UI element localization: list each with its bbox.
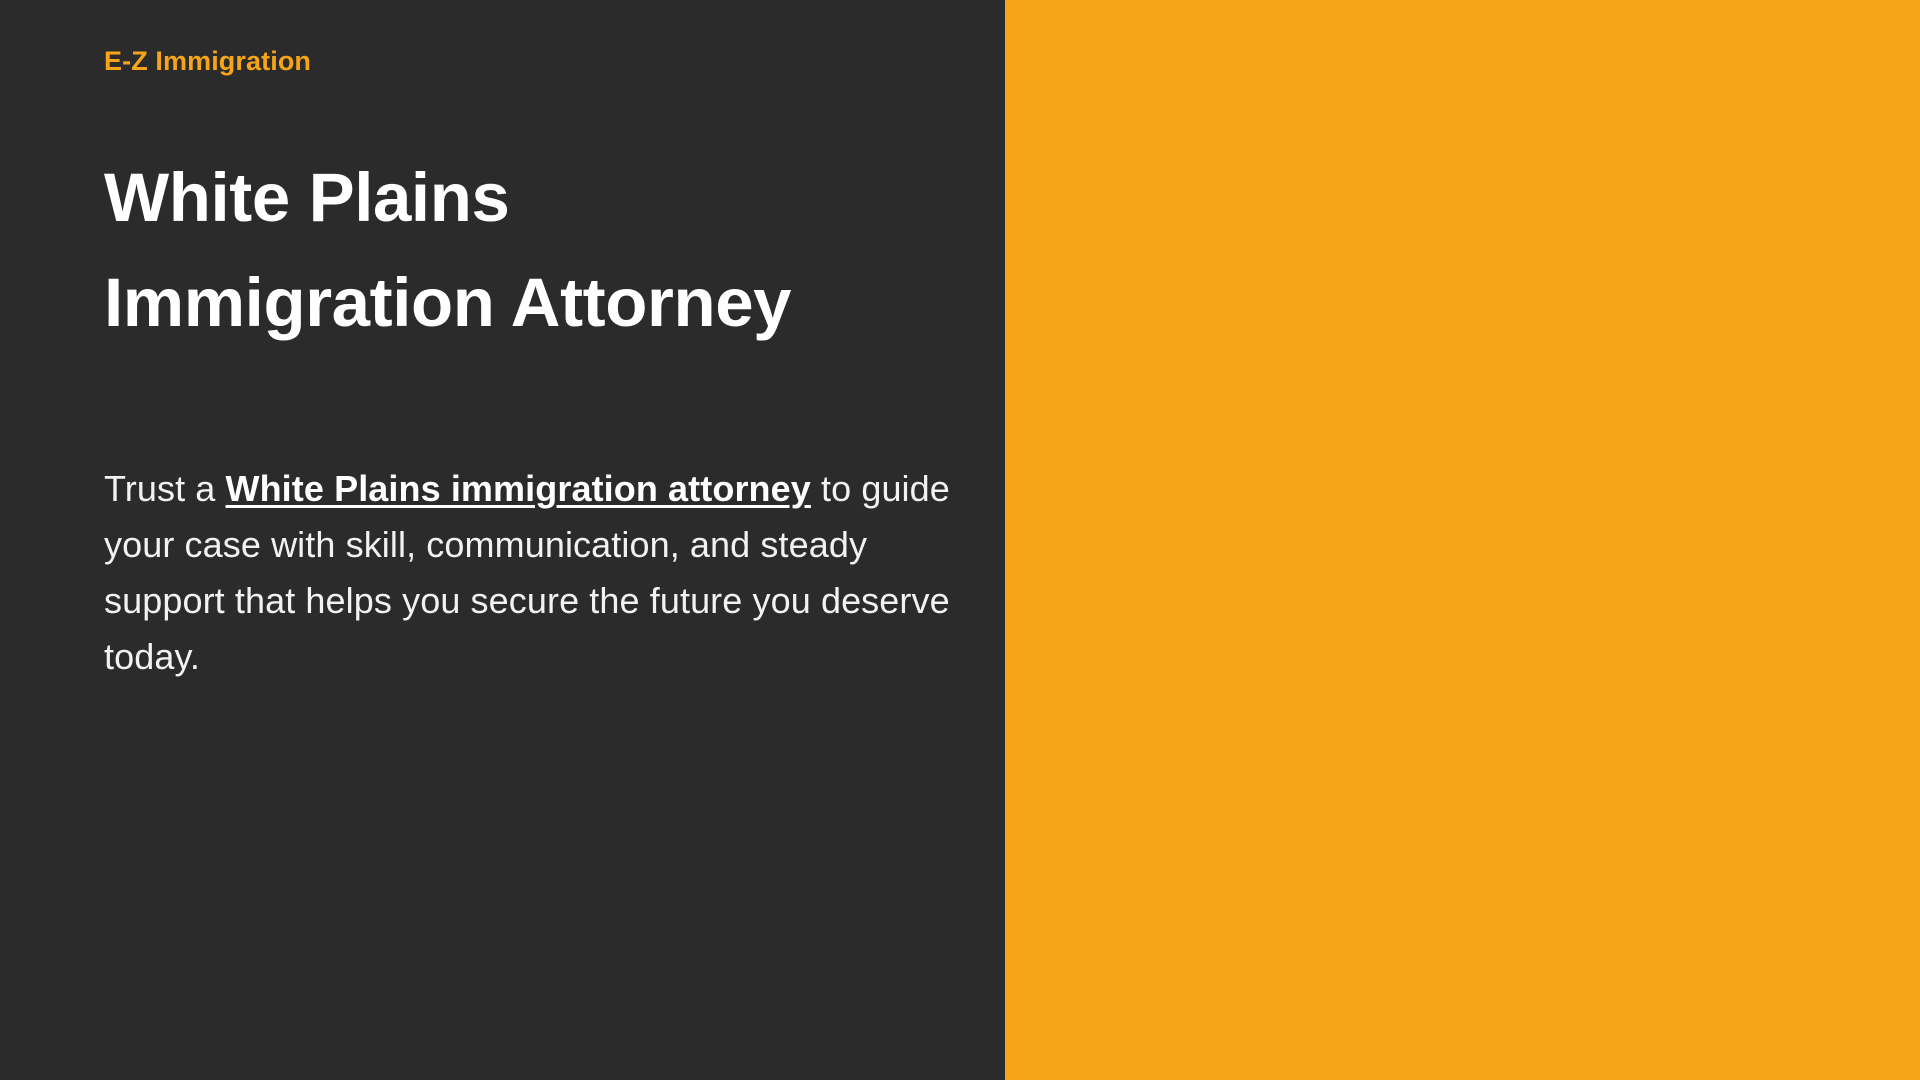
slide-root: E-Z Immigration White Plains Immigration…: [0, 0, 1920, 1080]
body-prefix: Trust a: [104, 468, 226, 509]
body-keyword-link[interactable]: White Plains immigration attorney: [226, 468, 811, 509]
left-content-panel: E-Z Immigration White Plains Immigration…: [0, 0, 1005, 1080]
headline-line-1: White Plains: [104, 146, 964, 251]
page-title: White Plains Immigration Attorney: [104, 146, 964, 356]
headline-line-2: Immigration Attorney: [104, 251, 964, 356]
right-accent-panel: ASIAN AMERICAN NETWORK DEFEND DACA #DACA…: [1005, 0, 1920, 1080]
brand-logo-text: E-Z Immigration: [104, 46, 311, 77]
body-paragraph: Trust a White Plains immigration attorne…: [104, 461, 954, 686]
